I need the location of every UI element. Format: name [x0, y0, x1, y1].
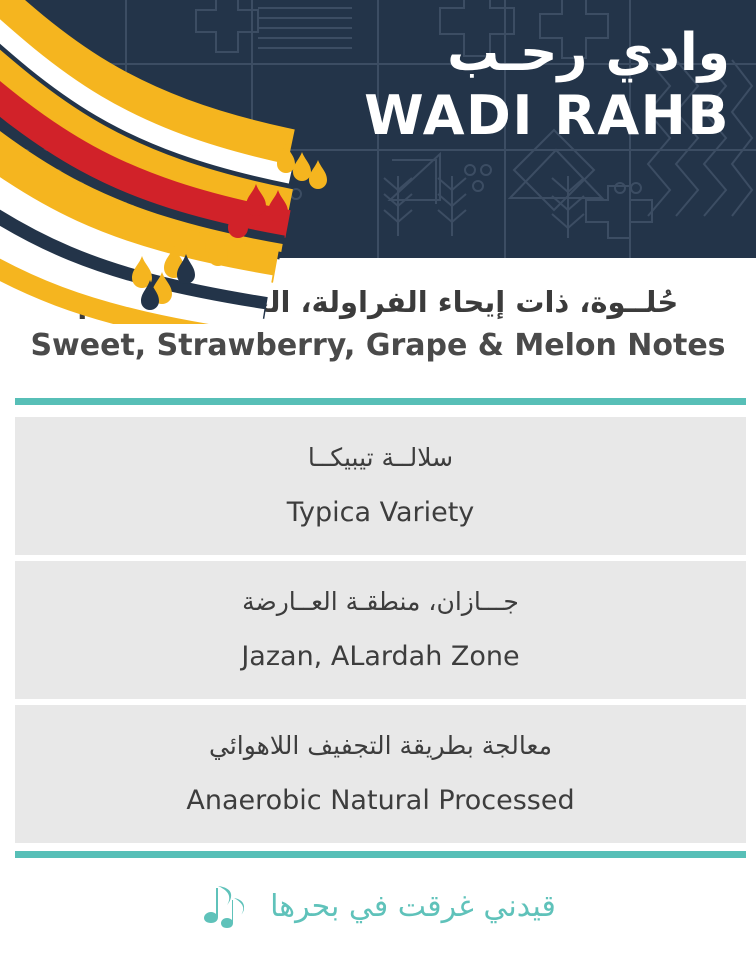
info-row-origin: جـــازان، منطقـة العــارضة Jazan, ALarda…	[15, 561, 746, 699]
brand-name-english: WADI RAHB	[364, 86, 730, 145]
origin-english: Jazan, ALardah Zone	[241, 639, 519, 674]
process-english: Anaerobic Natural Processed	[186, 783, 574, 818]
music-note-icon	[200, 882, 244, 930]
brand-header: وادي رحـب WADI RAHB	[0, 0, 756, 258]
footer-lyric-arabic: قيدني غرقت في بحرها	[270, 889, 556, 924]
tasting-notes-arabic: حُلــوة، ذات إيحاء الفراولة، العنب، الشم…	[0, 284, 756, 320]
info-row-variety: سلالــة تيبيكــا Typica Variety	[15, 417, 746, 555]
tasting-notes: حُلــوة، ذات إيحاء الفراولة، العنب، الشم…	[0, 258, 756, 364]
info-rows: سلالــة تيبيكــا Typica Variety جـــازان…	[15, 417, 746, 849]
process-arabic: معالجة بطريقة التجفيف اللاهوائي	[209, 730, 552, 763]
brand-name-block: وادي رحـب WADI RAHB	[364, 24, 730, 146]
variety-arabic: سلالــة تيبيكــا	[308, 442, 453, 475]
variety-english: Typica Variety	[287, 495, 475, 530]
info-row-process: معالجة بطريقة التجفيف اللاهوائي Anaerobi…	[15, 705, 746, 843]
brand-name-arabic: وادي رحـب	[364, 24, 730, 82]
divider-bottom	[15, 851, 746, 858]
tasting-notes-english: Sweet, Strawberry, Grape & Melon Notes	[0, 328, 756, 364]
divider-top	[15, 398, 746, 405]
origin-arabic: جـــازان، منطقـة العــارضة	[242, 586, 519, 619]
footer-lyric: قيدني غرقت في بحرها	[0, 866, 756, 946]
